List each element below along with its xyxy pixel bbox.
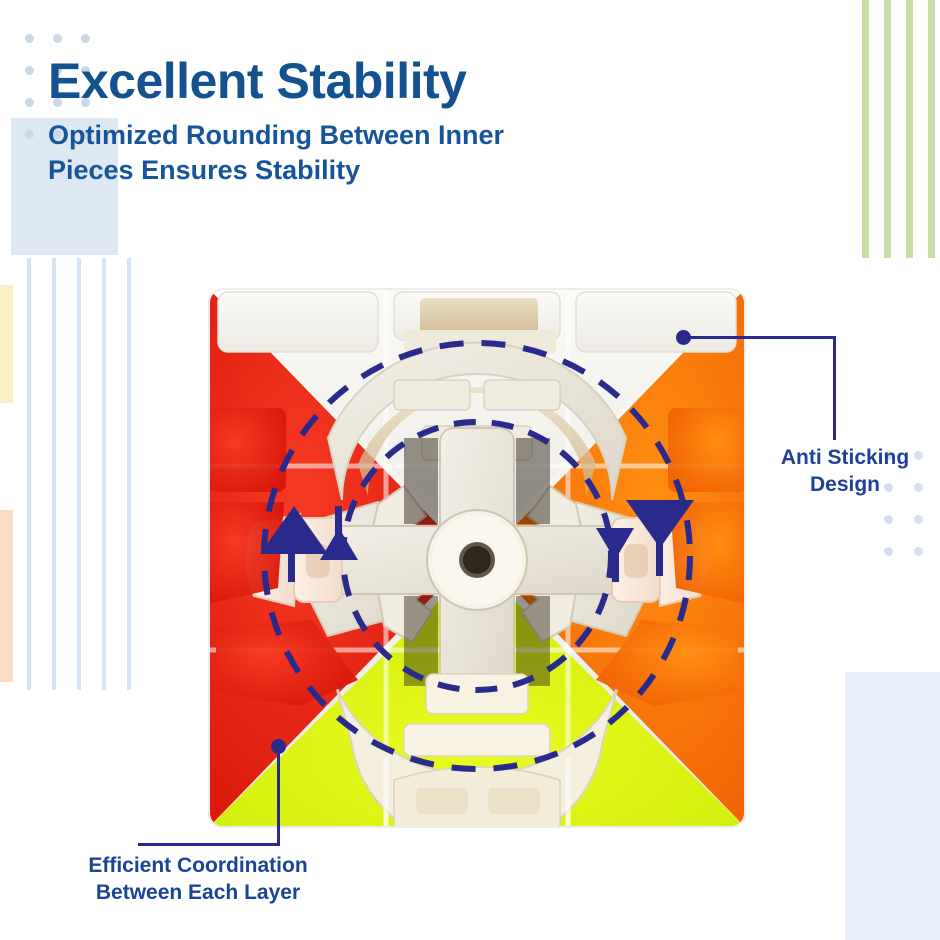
decor-peach-block <box>0 510 13 682</box>
decor-green-stripe <box>928 0 935 258</box>
decor-dot <box>53 34 62 43</box>
decor-dot <box>25 130 34 139</box>
page-title: Excellent Stability <box>48 55 708 108</box>
decor-vertical-line <box>102 258 106 690</box>
annotation-efficient-coordination: Efficient Coordination Between Each Laye… <box>48 852 348 907</box>
decor-green-stripe <box>862 0 869 258</box>
decor-dot <box>81 34 90 43</box>
annotation-line-2: Design <box>756 471 934 498</box>
heading-group: Excellent Stability Optimized Rounding B… <box>48 55 708 189</box>
decor-green-stripe <box>884 0 891 258</box>
annotation-line-1: Anti Sticking <box>756 444 934 471</box>
decor-dot <box>25 66 34 75</box>
decor-vertical-line <box>127 258 131 690</box>
decor-dot <box>884 547 893 556</box>
decor-dot <box>914 515 923 524</box>
leader-segment-horizontal <box>138 843 280 846</box>
decor-vertical-line <box>77 258 81 690</box>
annotation-anti-sticking: Anti Sticking Design <box>756 444 934 499</box>
product-image <box>208 288 746 828</box>
decor-dot <box>884 515 893 524</box>
annotation-line-2: Between Each Layer <box>48 879 348 906</box>
infographic-canvas: Excellent Stability Optimized Rounding B… <box>0 0 940 940</box>
decor-green-stripe <box>906 0 913 258</box>
decor-dot <box>914 547 923 556</box>
leader-segment-vertical <box>833 336 836 440</box>
decor-vertical-line <box>27 258 31 690</box>
cube-cross-section-illustration <box>208 288 746 828</box>
decor-dot <box>25 34 34 43</box>
decor-yellow-block <box>0 285 13 403</box>
annotation-line-1: Efficient Coordination <box>48 852 348 879</box>
decor-dot <box>25 98 34 107</box>
decor-corner-block <box>845 672 940 940</box>
decor-vertical-line <box>52 258 56 690</box>
page-subtitle: Optimized Rounding Between Inner Pieces … <box>48 118 568 190</box>
